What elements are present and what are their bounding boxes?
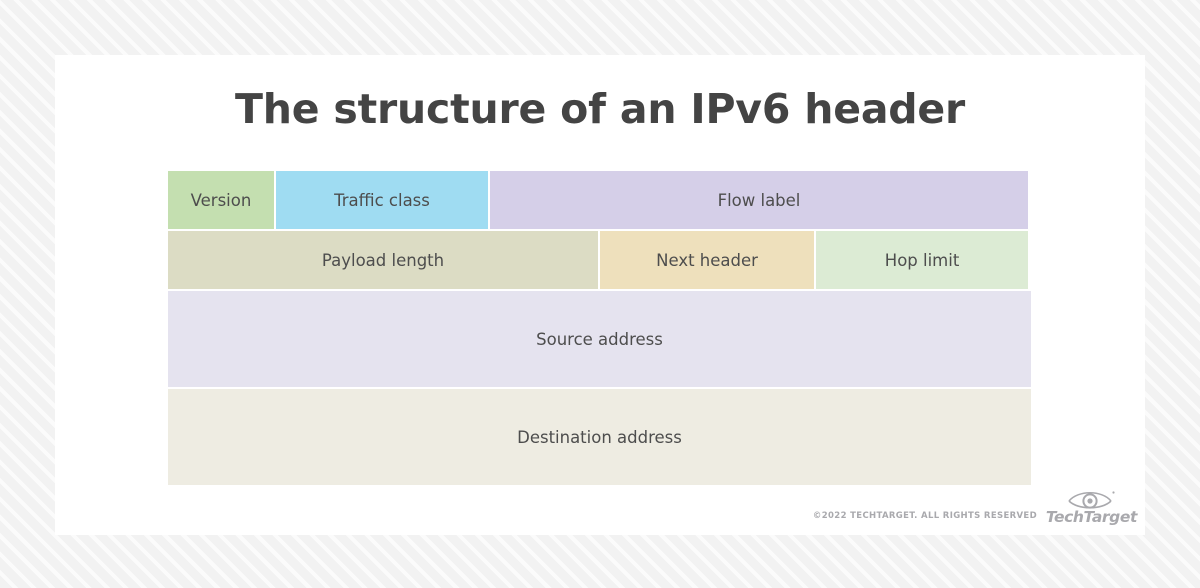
header-field-destination-address: Destination address — [168, 389, 1031, 485]
header-field-next-header: Next header — [600, 231, 814, 289]
ipv6-header-diagram: VersionTraffic classFlow labelPayload le… — [168, 171, 1031, 487]
header-field-label: Next header — [656, 251, 758, 270]
techtarget-brand-logo: TechTarget — [1046, 508, 1137, 526]
header-field-flow-label: Flow label — [490, 171, 1028, 229]
header-field-label: Destination address — [517, 428, 682, 447]
header-field-label: Version — [191, 191, 252, 210]
header-field-label: Flow label — [718, 191, 801, 210]
header-field-traffic-class: Traffic class — [276, 171, 488, 229]
header-field-payload-length: Payload length — [168, 231, 598, 289]
header-field-label: Source address — [536, 330, 663, 349]
header-field-label: Hop limit — [885, 251, 960, 270]
header-field-row: Destination address — [168, 389, 1031, 485]
header-field-version: Version — [168, 171, 274, 229]
header-field-hop-limit: Hop limit — [816, 231, 1028, 289]
copyright-notice: ©2022 TECHTARGET. ALL RIGHTS RESERVED — [813, 511, 1037, 521]
header-field-row: Payload lengthNext headerHop limit — [168, 231, 1031, 289]
header-field-row: VersionTraffic classFlow label — [168, 171, 1031, 229]
header-field-label: Payload length — [322, 251, 444, 270]
page-title: The structure of an IPv6 header — [55, 85, 1145, 133]
header-field-source-address: Source address — [168, 291, 1031, 387]
slide-card: The structure of an IPv6 header VersionT… — [55, 55, 1145, 535]
header-field-label: Traffic class — [334, 191, 430, 210]
header-field-row: Source address — [168, 291, 1031, 387]
